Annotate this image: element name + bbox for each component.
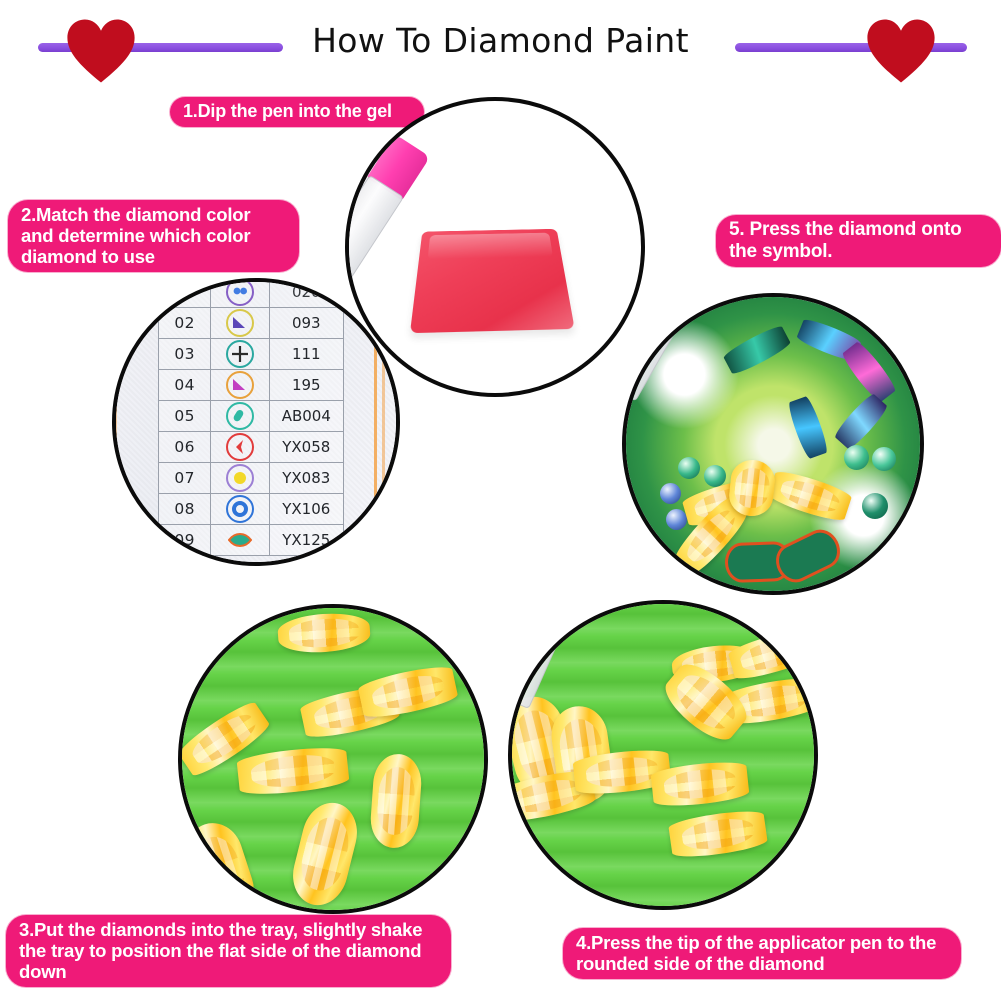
legend-symbol xyxy=(211,401,269,432)
legend-symbol-cell xyxy=(211,526,268,554)
legend-symbol-cell xyxy=(211,371,268,399)
pen-barrel xyxy=(345,175,404,283)
legend-symbol-cell xyxy=(211,495,268,523)
leaf-symbol-icon xyxy=(227,528,253,552)
legend-number: 093 xyxy=(269,308,343,339)
gel-pad xyxy=(410,229,575,333)
legend-row: 02093 xyxy=(159,308,344,339)
legend-number: 111 xyxy=(269,339,343,370)
sheet-margin-line xyxy=(374,282,377,562)
legend-row: 07YX083 xyxy=(159,463,344,494)
legend-code: 08 xyxy=(159,494,211,525)
legend-code: 03 xyxy=(159,339,211,370)
gem-facets xyxy=(662,766,738,802)
gem-facets xyxy=(680,815,756,854)
poster-canvas: How To Diamond Paint 1.Dip the pen into … xyxy=(0,0,1001,1001)
gem-facets xyxy=(375,766,416,836)
legend-number: YX106 xyxy=(269,494,343,525)
canvas-gem xyxy=(666,509,687,530)
legend-number: YX058 xyxy=(269,432,343,463)
legend-row: 03111 xyxy=(159,339,344,370)
legend-symbol xyxy=(211,308,269,339)
legend-row: 04195 xyxy=(159,370,344,401)
legend-symbol-cell xyxy=(211,278,268,306)
legend-symbol xyxy=(211,494,269,525)
legend-code: 09 xyxy=(159,525,211,556)
legend-symbol-cell xyxy=(211,464,268,492)
legend-code xyxy=(159,278,211,308)
legend-row: 020 xyxy=(159,278,344,308)
legend-symbol xyxy=(211,370,269,401)
legend-symbol xyxy=(211,278,269,308)
step-2-label: 2.Match the diamond color and determine … xyxy=(8,200,299,272)
gem-facets xyxy=(584,754,660,790)
canvas-gem xyxy=(660,483,681,504)
legend-symbol xyxy=(211,525,269,556)
gem-facets xyxy=(288,617,360,649)
legend-symbol xyxy=(211,339,269,370)
canvas-gem xyxy=(704,465,726,487)
legend-symbol-cell xyxy=(211,402,268,430)
step-2-photo: 02002093031110419505AB00406YX05807YX0830… xyxy=(112,278,400,566)
color-legend-table: 02002093031110419505AB00406YX05807YX0830… xyxy=(158,278,344,556)
canvas-gem xyxy=(678,457,700,479)
plus-symbol-icon xyxy=(226,340,254,368)
step-4-label: 4.Press the tip of the applicator pen to… xyxy=(563,928,961,979)
page-title: How To Diamond Paint xyxy=(0,18,1001,64)
sheet-margin-line xyxy=(382,282,385,562)
legend-number: YX083 xyxy=(269,463,343,494)
arrow-left-symbol-icon xyxy=(226,433,254,461)
ring-symbol-icon xyxy=(226,495,254,523)
filled-dot-symbol-icon xyxy=(226,464,254,492)
legend-table-body: 02002093031110419505AB00406YX05807YX0830… xyxy=(159,278,344,556)
triangle-symbol-icon xyxy=(226,309,254,337)
step-5-label: 5. Press the diamond onto the symbol. xyxy=(716,215,1001,267)
legend-row: 08YX106 xyxy=(159,494,344,525)
legend-number: 020 xyxy=(269,278,343,308)
legend-symbol-cell xyxy=(211,309,268,337)
canvas-gem xyxy=(872,447,896,471)
gem-facets xyxy=(250,752,336,791)
triangle-symbol-icon xyxy=(226,371,254,399)
legend-code: 07 xyxy=(159,463,211,494)
legend-row: 05AB004 xyxy=(159,401,344,432)
step-3-photo xyxy=(178,604,488,914)
canvas-gem xyxy=(844,445,869,470)
gem-facets xyxy=(733,466,770,510)
slash-oval-symbol-icon xyxy=(226,402,254,430)
step-1-label: 1.Dip the pen into the gel xyxy=(170,97,424,127)
legend-symbol xyxy=(211,432,269,463)
step-4-photo xyxy=(508,600,818,910)
legend-number: 195 xyxy=(269,370,343,401)
legend-row: 09YX125 xyxy=(159,525,344,556)
sheet-margin-line xyxy=(114,282,117,562)
legend-symbol-cell xyxy=(211,433,268,461)
step-3-label: 3.Put the diamonds into the tray, slight… xyxy=(6,915,451,987)
canvas-gem xyxy=(862,493,888,519)
legend-code: 06 xyxy=(159,432,211,463)
legend-code: 02 xyxy=(159,308,211,339)
legend-number: YX125 xyxy=(269,525,343,556)
legend-code: 04 xyxy=(159,370,211,401)
legend-row: 06YX058 xyxy=(159,432,344,463)
legend-code: 05 xyxy=(159,401,211,432)
gem-facets xyxy=(296,813,354,896)
step-5-photo xyxy=(622,293,924,595)
legend-symbol-cell xyxy=(211,340,268,368)
legend-symbol xyxy=(211,463,269,494)
double-dot-symbol-icon xyxy=(226,278,254,306)
legend-number: AB004 xyxy=(269,401,343,432)
